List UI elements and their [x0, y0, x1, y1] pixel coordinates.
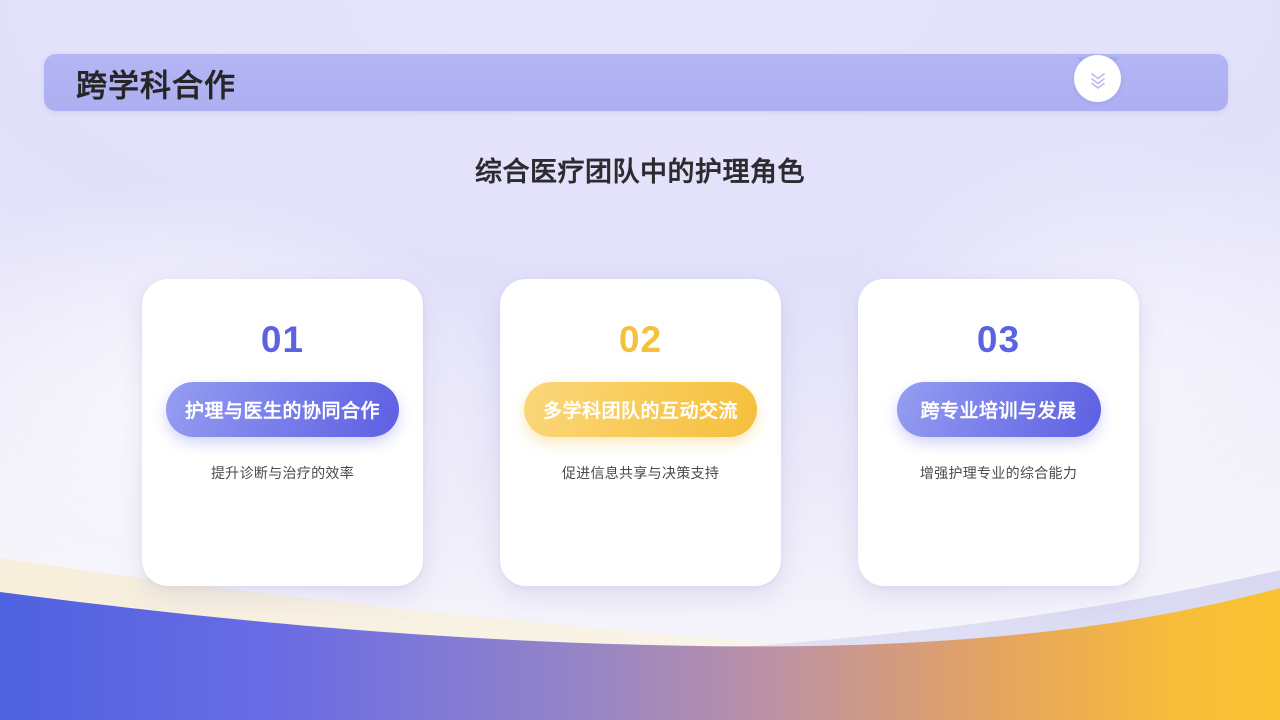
- slide-canvas: 跨学科合作 综合医疗团队中的护理角色 01 护理与医生的协同合作 提升诊断与治疗…: [0, 0, 1280, 720]
- page-title: 跨学科合作: [76, 60, 236, 105]
- section-heading: 综合医疗团队中的护理角色: [0, 150, 1280, 189]
- card-number: 03: [977, 321, 1020, 358]
- card-description: 提升诊断与治疗的效率: [211, 463, 354, 483]
- info-card-3[interactable]: 03 跨专业培训与发展 增强护理专业的综合能力: [858, 279, 1139, 586]
- card-pill-label[interactable]: 跨专业培训与发展: [897, 382, 1101, 437]
- scroll-down-badge[interactable]: [1074, 55, 1121, 102]
- card-list: 01 护理与医生的协同合作 提升诊断与治疗的效率 02 多学科团队的互动交流 促…: [142, 279, 1139, 586]
- info-card-1[interactable]: 01 护理与医生的协同合作 提升诊断与治疗的效率: [142, 279, 423, 586]
- info-card-2[interactable]: 02 多学科团队的互动交流 促进信息共享与决策支持: [500, 279, 781, 586]
- card-number: 01: [261, 321, 304, 358]
- card-description: 促进信息共享与决策支持: [562, 463, 719, 483]
- header-bar: 跨学科合作: [44, 54, 1228, 111]
- card-number: 02: [619, 321, 662, 358]
- card-pill-label[interactable]: 护理与医生的协同合作: [166, 382, 399, 437]
- card-pill-label[interactable]: 多学科团队的互动交流: [524, 382, 757, 437]
- card-description: 增强护理专业的综合能力: [920, 463, 1077, 483]
- double-chevron-down-icon: [1087, 68, 1109, 90]
